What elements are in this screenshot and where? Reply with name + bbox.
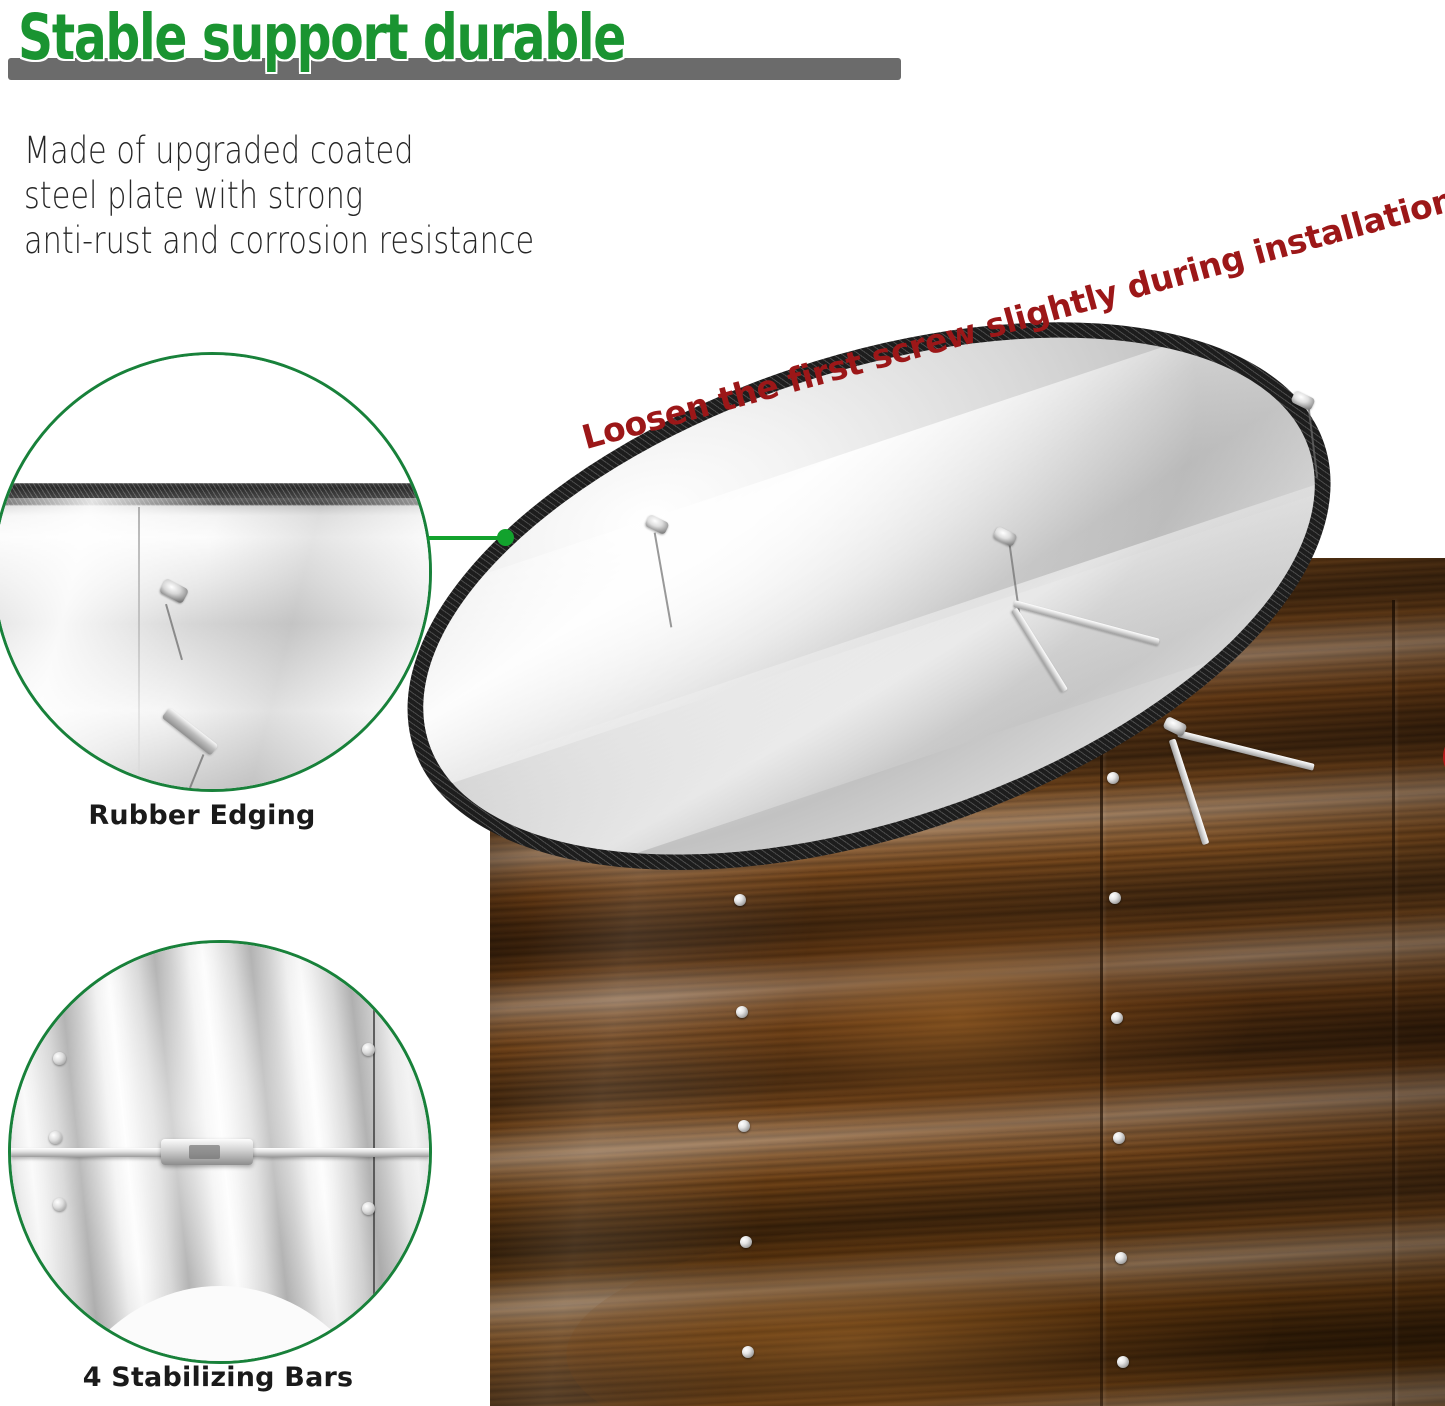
screw (1113, 1132, 1125, 1144)
rubber-edging-photo (0, 355, 429, 789)
subtitle-text: Made of upgraded coated steel plate with… (24, 128, 534, 263)
screw (1107, 772, 1119, 784)
panel-seam (1100, 644, 1103, 1406)
product-infographic: Stable support durable Made of upgraded … (0, 0, 1445, 1406)
screw (1115, 1252, 1127, 1264)
panel-seam (1392, 600, 1395, 1406)
product-image (466, 300, 1445, 1406)
header: Stable support durable Made of upgraded … (0, 0, 1445, 270)
rivet (49, 1131, 62, 1144)
screw (738, 1120, 750, 1132)
callout-connector-dot (497, 529, 514, 546)
callout-connector-line (428, 536, 506, 540)
screw (1109, 892, 1121, 904)
callout-label-rubber-edging: Rubber Edging (0, 800, 412, 831)
page-title: Stable support durable (18, 4, 625, 72)
screw (1111, 1012, 1123, 1024)
screw (740, 1236, 752, 1248)
callout-circle-rubber-edging (0, 352, 432, 792)
screw (742, 1346, 754, 1358)
rivet (53, 1198, 66, 1211)
rubber-strip-texture (0, 483, 429, 506)
screw (1117, 1356, 1129, 1368)
callout-circle-stabilizing-bars (8, 940, 432, 1364)
screw (734, 894, 746, 906)
rivet (53, 1052, 66, 1065)
callout-label-stabilizing-bars: 4 Stabilizing Bars (8, 1362, 428, 1393)
stabilizing-bar-sleeve (161, 1139, 253, 1165)
screw (736, 1006, 748, 1018)
